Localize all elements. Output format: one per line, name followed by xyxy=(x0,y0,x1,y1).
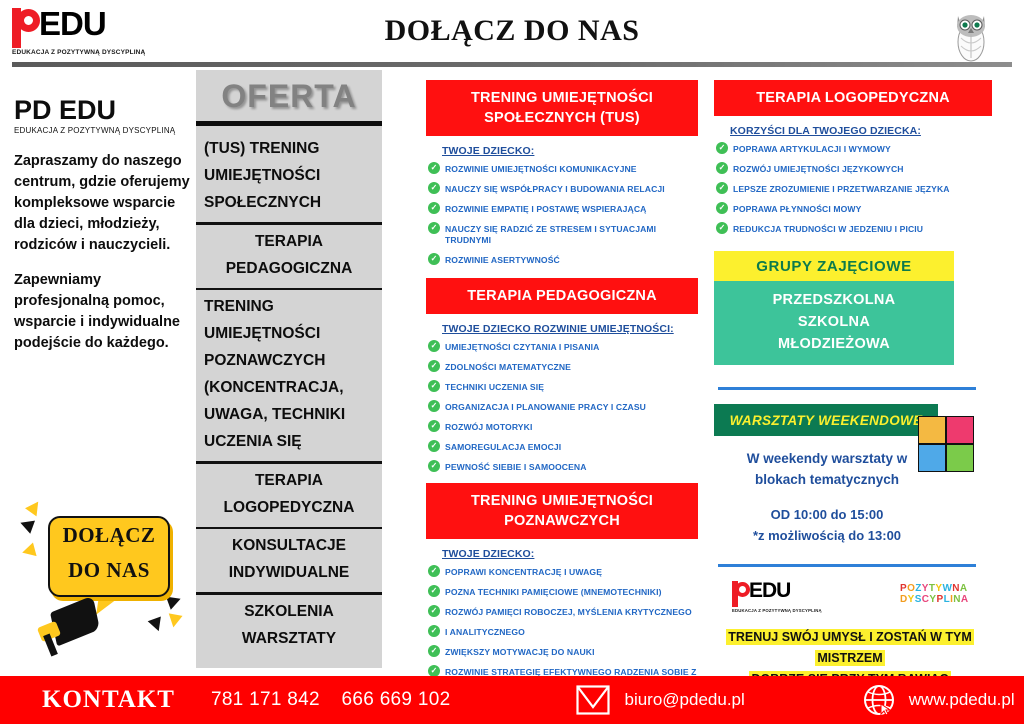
grupy-item-przedszkolna: PRZEDSZKOLNA xyxy=(714,289,954,311)
oferta-item-trening-poznawczy[interactable]: TRENING UMIEJĘTNOŚCI POZNAWCZYCH (KONCEN… xyxy=(196,290,382,461)
card-terapia-pedagogiczna: TERAPIA PEDAGOGICZNA TWOJE DZIECKO ROZWI… xyxy=(426,278,698,473)
page-title: DOŁĄCZ DO NAS xyxy=(0,14,1024,48)
megaphone-icon xyxy=(50,595,100,646)
list-item-label: POPRAWA PŁYNNOŚCI MOWY xyxy=(733,204,861,214)
grupy-heading: GRUPY ZAJĘCIOWE xyxy=(714,251,954,281)
oferta-item-konsultacje[interactable]: KONSULTACJE INDYWIDUALNE xyxy=(196,529,382,592)
card-tus-list-title: TWOJE DZIECKO: xyxy=(442,145,698,157)
list-item-label: ROZWÓJ UMIEJĘTNOŚCI JĘZYKOWYCH xyxy=(733,164,904,174)
phone-number-1[interactable]: 781 171 842 xyxy=(211,689,320,710)
contact-email[interactable]: biuro@pdedu.pl xyxy=(624,690,744,710)
list-item: ✓LEPSZE ZROZUMIENIE I PRZETWARZANIE JĘZY… xyxy=(716,184,992,195)
check-icon: ✓ xyxy=(428,585,440,597)
list-item: ✓SAMOREGULACJA EMOCJI xyxy=(428,442,698,453)
contact-email-group[interactable]: biuro@pdedu.pl xyxy=(576,685,744,715)
list-item: ✓ZWIĘKSZY MOTYWACJĘ DO NAUKI xyxy=(428,647,698,658)
spark-yellow-1 xyxy=(25,498,44,517)
oferta-heading: OFERTA xyxy=(196,76,382,121)
promo-line-1: TRENUJ SWÓJ UMYSŁ I ZOSTAŃ W TYM xyxy=(726,629,974,645)
list-item-label: SAMOREGULACJA EMOCJI xyxy=(445,442,561,452)
list-item-label: ROZWÓJ MOTORYKI xyxy=(445,422,532,432)
warsztaty-line-4: *z możliwością do 13:00 xyxy=(714,525,940,546)
list-item-label: ZWIĘKSZY MOTYWACJĘ DO NAUKI xyxy=(445,647,595,657)
header-divider xyxy=(12,62,1012,67)
card-tus-title: TRENING UMIEJĘTNOŚCI SPOŁECZNYCH (TUS) xyxy=(426,80,698,136)
brand-title: PD EDU xyxy=(14,96,194,124)
oferta-rule xyxy=(196,121,382,126)
check-icon: ✓ xyxy=(428,625,440,637)
list-item: ✓I ANALITYCZNEGO xyxy=(428,627,698,638)
check-icon: ✓ xyxy=(428,222,440,234)
logo-tagline-small: EDUKACJA Z POZYTYWNĄ DYSCYPLINĄ xyxy=(732,608,828,613)
check-icon: ✓ xyxy=(428,400,440,412)
warsztaty-hours-block: OD 10:00 do 15:00 *z możliwością do 13:0… xyxy=(714,504,940,546)
list-item: ✓NAUCZY SIĘ RADZIĆ ZE STRESEM I SYTUACJA… xyxy=(428,224,698,246)
check-icon: ✓ xyxy=(716,222,728,234)
grupy-zajeciowe-block: GRUPY ZAJĘCIOWE PRZEDSZKOLNA SZKOLNA MŁO… xyxy=(714,251,954,365)
check-icon: ✓ xyxy=(428,420,440,432)
list-item-label: UMIEJĘTNOŚCI CZYTANIA I PISANIA xyxy=(445,342,599,352)
right-column: TERAPIA LOGOPEDYCZNA KORZYŚCI DLA TWOJEG… xyxy=(714,80,992,690)
oferta-panel: OFERTA (TUS) TRENING UMIEJĘTNOŚCI SPOŁEC… xyxy=(196,70,382,668)
list-item-label: POPRAWI KONCENTRACJĘ I UWAGĘ xyxy=(445,567,602,577)
join-us-badge: DOŁĄCZ DO NAS xyxy=(6,494,206,669)
list-item: ✓PEWNOŚĆ SIEBIE I SAMOOCENA xyxy=(428,462,698,473)
warsztaty-line-3: OD 10:00 do 15:00 xyxy=(714,504,940,525)
check-icon: ✓ xyxy=(716,142,728,154)
list-item-label: ORGANIZACJA I PLANOWANIE PRACY I CZASU xyxy=(445,402,646,412)
list-item: ✓POPRAWA ARTYKULACJI I WYMOWY xyxy=(716,144,992,155)
warsztaty-heading: WARSZTATY WEEKENDOWE xyxy=(714,404,938,436)
intro-paragraph-2: Zapewniamy profesjonalną pomoc, wsparcie… xyxy=(14,270,194,354)
list-item-label: LEPSZE ZROZUMIENIE I PRZETWARZANIE JĘZYK… xyxy=(733,184,950,194)
intro-column: PD EDU EDUKACJA Z POZYTYWNĄ DYSCYPLINĄ Z… xyxy=(14,96,194,354)
list-item-label: POPRAWA ARTYKULACJI I WYMOWY xyxy=(733,144,891,154)
grupy-item-szkolna: SZKOLNA xyxy=(714,311,954,333)
list-item-label: TECHNIKI UCZENIA SIĘ xyxy=(445,382,544,392)
list-item: ✓TECHNIKI UCZENIA SIĘ xyxy=(428,382,698,393)
check-icon: ✓ xyxy=(428,182,440,194)
check-icon: ✓ xyxy=(428,460,440,472)
card-pedagogiczna-list-title: TWOJE DZIECKO ROZWINIE UMIEJĘTNOŚCI: xyxy=(442,323,698,335)
list-item: ✓ROZWÓJ UMIEJĘTNOŚCI JĘZYKOWYCH xyxy=(716,164,992,175)
card-poznawcze-list-title: TWOJE DZIECKO: xyxy=(442,548,698,560)
contact-website[interactable]: www.pdedu.pl xyxy=(909,690,1015,710)
check-icon: ✓ xyxy=(428,440,440,452)
list-item-label: REDUKCJA TRUDNOŚCI W JEDZENIU I PICIU xyxy=(733,224,923,234)
check-icon: ✓ xyxy=(428,380,440,392)
owl-icon xyxy=(948,8,994,64)
spark-black-2 xyxy=(166,592,183,610)
list-item-label: ROZWÓJ PAMIĘCI ROBOCZEJ, MYŚLENIA KRYTYC… xyxy=(445,607,692,617)
list-item-label: NAUCZY SIĘ RADZIĆ ZE STRESEM I SYTUACJAM… xyxy=(445,224,656,245)
pozytywna-dyscyplina-logo: POZYTYWNA DYSCYPLINA xyxy=(900,583,969,605)
pd-logo-line-2: DYSCYPLINA xyxy=(900,594,969,605)
warsztaty-line-1: W weekendy warsztaty w xyxy=(714,448,940,469)
divider-blue-top xyxy=(718,387,976,390)
list-item-label: NAUCZY SIĘ WSPÓŁPRACY I BUDOWANIA RELACJ… xyxy=(445,184,665,194)
pdedu-logo-small: EDU EDUKACJA Z POZYTYWNĄ DYSCYPLINĄ xyxy=(732,581,828,613)
oferta-item-tus[interactable]: (TUS) TRENING UMIEJĘTNOŚCI SPOŁECZNYCH xyxy=(196,132,382,222)
spark-yellow-3 xyxy=(166,613,182,628)
check-icon: ✓ xyxy=(716,162,728,174)
card-logopedyczna-list: ✓POPRAWA ARTYKULACJI I WYMOWY ✓ROZWÓJ UM… xyxy=(714,144,992,235)
intro-paragraph-1: Zapraszamy do naszego centrum, gdzie ofe… xyxy=(14,151,194,256)
check-icon: ✓ xyxy=(428,360,440,372)
grupy-body: PRZEDSZKOLNA SZKOLNA MŁODZIEŻOWA xyxy=(714,281,954,365)
card-poznawcze-title: TRENING UMIEJĘTNOŚCI POZNAWCZYCH xyxy=(426,483,698,539)
poster-canvas: EDU EDUKACJA Z POZYTYWNĄ DYSCYPLINĄ DOŁĄ… xyxy=(0,0,1024,724)
contact-website-group[interactable]: www.pdedu.pl xyxy=(863,684,1015,716)
list-item-label: I ANALITYCZNEGO xyxy=(445,627,525,637)
card-tus-list: ✓ROZWINIE UMIEJĘTNOŚCI KOMUNIKACYJNE ✓NA… xyxy=(426,164,698,266)
grupy-item-mlodziezowa: MŁODZIEŻOWA xyxy=(714,333,954,355)
contact-label: KONTAKT xyxy=(42,686,175,714)
list-item: ✓ZDOLNOŚCI MATEMATYCZNE xyxy=(428,362,698,373)
list-item: ✓ROZWINIE UMIEJĘTNOŚCI KOMUNIKACYJNE xyxy=(428,164,698,175)
badge-line-2: DO NAS xyxy=(50,553,168,588)
spark-black-3 xyxy=(148,616,166,633)
card-trening-poznawczy: TRENING UMIEJĘTNOŚCI POZNAWCZYCH TWOJE D… xyxy=(426,483,698,698)
globe-icon xyxy=(863,684,895,716)
check-icon: ✓ xyxy=(716,182,728,194)
list-item: ✓POPRAWI KONCENTRACJĘ I UWAGĘ xyxy=(428,567,698,578)
contact-phones: 781 171 842 666 669 102 xyxy=(211,689,451,711)
brand-subtitle: EDUKACJA Z POZYTYWNĄ DYSCYPLINĄ xyxy=(14,126,194,135)
list-item: ✓REDUKCJA TRUDNOŚCI W JEDZENIU I PICIU xyxy=(716,224,992,235)
pd-logo-line-1: POZYTYWNA xyxy=(900,583,969,594)
list-item: ✓UMIEJĘTNOŚCI CZYTANIA I PISANIA xyxy=(428,342,698,353)
oferta-item-terapia-logopedyczna[interactable]: TERAPIA LOGOPEDYCZNA xyxy=(196,464,382,527)
spark-black-1 xyxy=(18,516,35,534)
card-pedagogiczna-list: ✓UMIEJĘTNOŚCI CZYTANIA I PISANIA ✓ZDOLNO… xyxy=(426,342,698,473)
list-item-label: PEWNOŚĆ SIEBIE I SAMOOCENA xyxy=(445,462,587,472)
list-item: ✓ROZWÓJ PAMIĘCI ROBOCZEJ, MYŚLENIA KRYTY… xyxy=(428,607,698,618)
check-icon: ✓ xyxy=(716,202,728,214)
check-icon: ✓ xyxy=(428,202,440,214)
warsztaty-block: WARSZTATY WEEKENDOWE W weekendy warsztat… xyxy=(714,404,986,546)
check-icon: ✓ xyxy=(428,253,440,265)
list-item: ✓POPRAWA PŁYNNOŚCI MOWY xyxy=(716,204,992,215)
puzzle-icon xyxy=(918,416,974,472)
oferta-item-szkolenia[interactable]: SZKOLENIA WARSZTATY xyxy=(196,595,382,658)
promo-line-2: MISTRZEM xyxy=(815,650,884,666)
list-item-label: ROZWINIE ASERTYWNOŚĆ xyxy=(445,255,560,265)
card-terapia-logopedyczna: TERAPIA LOGOPEDYCZNA KORZYŚCI DLA TWOJEG… xyxy=(714,80,992,235)
check-icon: ✓ xyxy=(428,605,440,617)
list-item: ✓ROZWINIE EMPATIĘ I POSTAWĘ WSPIERAJĄCĄ xyxy=(428,204,698,215)
check-icon: ✓ xyxy=(428,340,440,352)
warsztaty-text-block: W weekendy warsztaty w blokach tematyczn… xyxy=(714,448,940,490)
envelope-icon xyxy=(576,685,610,715)
warsztaty-line-2: blokach tematycznych xyxy=(714,469,940,490)
card-tus: TRENING UMIEJĘTNOŚCI SPOŁECZNYCH (TUS) T… xyxy=(426,80,698,266)
logo-tagline: EDUKACJA Z POZYTYWNĄ DYSCYPLINĄ xyxy=(12,49,144,56)
list-item: ✓NAUCZY SIĘ WSPÓŁPRACY I BUDOWANIA RELAC… xyxy=(428,184,698,195)
list-item: ✓ROZWÓJ MOTORYKI xyxy=(428,422,698,433)
card-pedagogiczna-title: TERAPIA PEDAGOGICZNA xyxy=(426,278,698,314)
list-item-label: ROZWINIE EMPATIĘ I POSTAWĘ WSPIERAJĄCĄ xyxy=(445,204,646,214)
check-icon: ✓ xyxy=(428,565,440,577)
card-logopedyczna-title: TERAPIA LOGOPEDYCZNA xyxy=(714,80,992,116)
list-item: ✓POZNA TECHNIKI PAMIĘCIOWE (MNEMOTECHNIK… xyxy=(428,587,698,598)
phone-number-2[interactable]: 666 669 102 xyxy=(342,689,451,710)
list-item: ✓ROZWINIE ASERTYWNOŚĆ xyxy=(428,255,698,266)
list-item-label: ROZWINIE UMIEJĘTNOŚCI KOMUNIKACYJNE xyxy=(445,164,637,174)
check-icon: ✓ xyxy=(428,645,440,657)
check-icon: ✓ xyxy=(428,162,440,174)
middle-column: TRENING UMIEJĘTNOŚCI SPOŁECZNYCH (TUS) T… xyxy=(426,80,698,707)
card-logopedyczna-list-title: KORZYŚCI DLA TWOJEGO DZIECKA: xyxy=(730,125,992,137)
oferta-item-terapia-pedagogiczna[interactable]: TERAPIA PEDAGOGICZNA xyxy=(196,225,382,288)
badge-line-1: DOŁĄCZ xyxy=(50,518,168,553)
contact-bar: KONTAKT 781 171 842 666 669 102 biuro@pd… xyxy=(0,676,1024,724)
footer-logos: EDU EDUKACJA Z POZYTYWNĄ DYSCYPLINĄ POZY… xyxy=(714,579,986,619)
list-item-label: ZDOLNOŚCI MATEMATYCZNE xyxy=(445,362,571,372)
list-item: ✓ORGANIZACJA I PLANOWANIE PRACY I CZASU xyxy=(428,402,698,413)
list-item-label: POZNA TECHNIKI PAMIĘCIOWE (MNEMOTECHNIKI… xyxy=(445,587,662,597)
spark-yellow-2 xyxy=(20,543,36,560)
logo-p-mark-small xyxy=(732,581,751,607)
speech-bubble: DOŁĄCZ DO NAS xyxy=(48,516,170,597)
divider-blue-bottom xyxy=(718,564,976,567)
logo-edu-text-small: EDU xyxy=(749,581,790,601)
